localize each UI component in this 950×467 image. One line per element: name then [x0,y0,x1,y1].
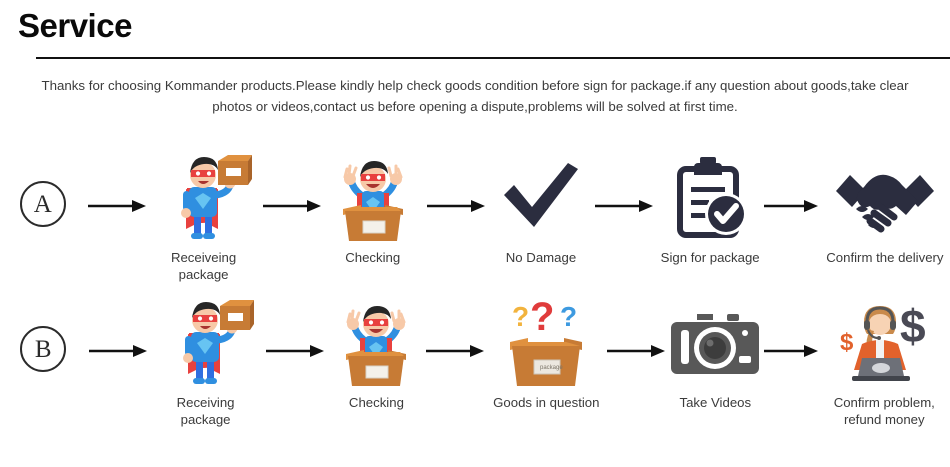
step-label: Checking [349,395,404,412]
arrow-b1 [86,300,150,359]
arrow-b4 [606,300,666,359]
step-label: Receiveing package [149,250,259,283]
arrow-right-icon [89,343,147,359]
flow-row-b: B [0,300,950,430]
flow-row-a: A [0,155,950,285]
clipboard-check-icon [670,155,750,243]
svg-text:$: $ [900,300,926,352]
step-art: $ $ [832,300,936,388]
arrow-right-icon [266,343,324,359]
step-art [156,155,252,243]
hero-in-open-box-icon [330,300,422,388]
step-label: No Damage [506,250,576,267]
hero-holding-package-icon [156,155,252,243]
step-label: Goods in question [493,395,599,412]
box-question-marks-icon: ? ? ? package [496,300,596,388]
arrow-b3 [424,300,486,359]
arrow-right-icon [263,198,321,214]
handshake-icon [830,155,940,243]
svg-text:?: ? [560,301,577,332]
hero-holding-package-icon [158,300,254,388]
step-label: Checking [345,250,400,267]
row-badge-b: B [20,326,66,372]
step-a-receiving-package: Receiveing package [149,155,259,283]
step-label: Confirm problem, refund money [834,395,935,428]
step-b-checking: Checking [329,300,425,412]
arrow-right-icon [426,343,484,359]
arrow-a2 [258,155,325,214]
arrow-b2 [261,300,329,359]
row-badge-a: A [20,181,66,227]
step-b-take-videos: Take Videos [666,300,764,412]
svg-text:package: package [540,365,563,371]
arrow-right-icon [427,198,485,214]
arrow-right-icon [764,198,818,214]
intro-paragraph: Thanks for choosing Kommander products.P… [20,76,930,117]
svg-text:?: ? [512,301,529,332]
title-divider [36,57,950,59]
step-art [327,155,419,243]
support-agent-dollar-icon: $ $ [832,300,936,388]
svg-text:$: $ [840,329,854,356]
arrow-b5 [764,300,818,359]
step-b-goods-in-question: ? ? ? package Goods in question [486,300,606,412]
step-a-checking: Checking [325,155,420,267]
step-b-confirm-problem-refund: $ $ [819,300,950,428]
step-art [669,300,761,388]
camera-icon [669,300,761,388]
step-art [670,155,750,243]
checkmark-icon [498,155,584,243]
step-a-sign-for-package: Sign for package [658,155,762,267]
row-a-badge-cell: A [0,155,86,227]
step-label: Take Videos [679,395,751,412]
step-b-receiving-package: Receiving package [150,300,261,428]
page-title: Service [18,8,950,45]
arrow-a3 [420,155,493,214]
step-label: Receiving package [150,395,261,428]
step-a-no-damage: No Damage [493,155,590,267]
arrow-right-icon [607,343,665,359]
step-art [330,300,422,388]
arrow-a4 [589,155,658,214]
step-a-confirm-delivery: Confirm the delivery [820,155,950,267]
step-label: Sign for package [661,250,760,267]
step-label: Confirm the delivery [826,250,943,267]
step-art [830,155,940,243]
row-b-badge-cell: B [0,300,86,372]
arrow-right-icon [88,198,146,214]
svg-text:?: ? [530,300,554,339]
arrow-a1 [86,155,149,214]
hero-in-open-box-icon [327,155,419,243]
service-infographic: Service Thanks for choosing Kommander pr… [0,0,950,467]
step-art: ? ? ? package [496,300,596,388]
arrow-right-icon [595,198,653,214]
step-art [158,300,254,388]
arrow-a5 [762,155,820,214]
header: Service [0,0,950,45]
arrow-right-icon [764,343,818,359]
step-art [498,155,584,243]
